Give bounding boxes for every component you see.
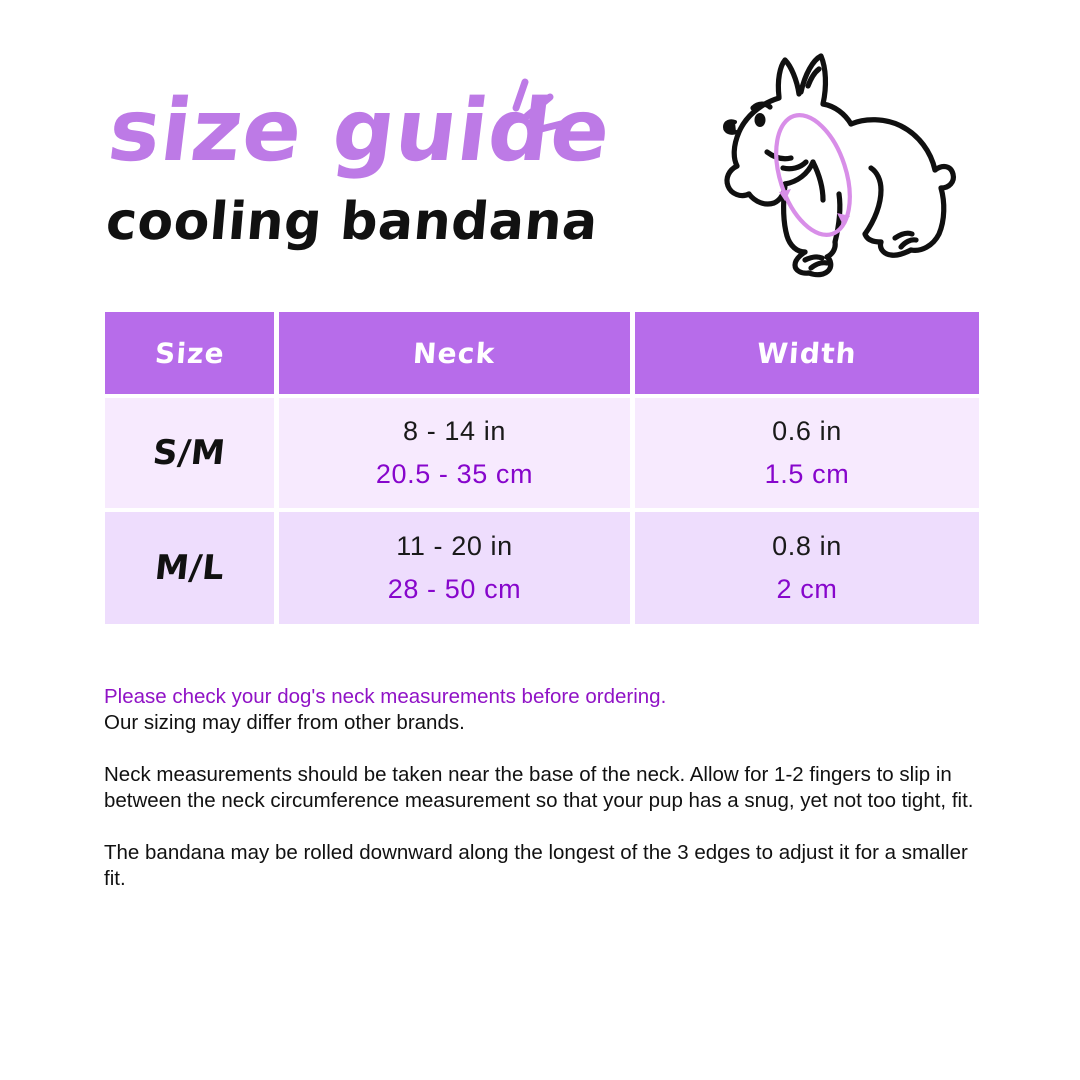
table-header-size-label: Size bbox=[153, 337, 225, 370]
table-header-size: Size bbox=[105, 312, 274, 394]
note-secondary-line: Our sizing may differ from other brands. bbox=[104, 710, 984, 736]
sparkle-lines-icon bbox=[492, 72, 572, 156]
note-paragraph-rolling: The bandana may be rolled downward along… bbox=[104, 840, 984, 892]
size-guide-page: size guide cooling bandana bbox=[0, 0, 1080, 1080]
width-inches: 0.8 in bbox=[772, 533, 842, 560]
cell-neck: 8 - 14 in 20.5 - 35 cm bbox=[279, 398, 630, 508]
neck-centimeters: 28 - 50 cm bbox=[388, 576, 522, 603]
notes-section: Please check your dog's neck measurement… bbox=[104, 684, 984, 892]
neck-centimeters: 20.5 - 35 cm bbox=[376, 461, 533, 488]
note-accent-line: Please check your dog's neck measurement… bbox=[104, 684, 984, 710]
cell-width: 0.6 in 1.5 cm bbox=[635, 398, 979, 508]
size-label: S/M bbox=[151, 433, 227, 473]
page-subtitle: cooling bandana bbox=[104, 196, 610, 248]
cell-neck: 11 - 20 in 28 - 50 cm bbox=[279, 512, 630, 624]
table-row: M/L 11 - 20 in 28 - 50 cm 0.8 in 2 cm bbox=[105, 512, 974, 624]
french-bulldog-illustration bbox=[705, 42, 975, 287]
header-section: size guide cooling bandana bbox=[0, 0, 1080, 300]
cell-size: S/M bbox=[105, 398, 274, 508]
table-header-row: Size Neck Width bbox=[105, 312, 974, 394]
cell-width: 0.8 in 2 cm bbox=[635, 512, 979, 624]
width-centimeters: 1.5 cm bbox=[765, 461, 850, 488]
table-header-neck-label: Neck bbox=[412, 337, 497, 370]
neck-inches: 8 - 14 in bbox=[403, 418, 506, 445]
table-row: S/M 8 - 14 in 20.5 - 35 cm 0.6 in 1.5 cm bbox=[105, 398, 974, 508]
size-table: Size Neck Width S/M 8 - 14 in 20.5 - 35 … bbox=[105, 312, 974, 624]
table-header-neck: Neck bbox=[279, 312, 630, 394]
width-centimeters: 2 cm bbox=[777, 576, 838, 603]
size-label: M/L bbox=[153, 548, 227, 588]
table-header-width-label: Width bbox=[756, 337, 858, 370]
cell-size: M/L bbox=[105, 512, 274, 624]
width-inches: 0.6 in bbox=[772, 418, 842, 445]
neck-inches: 11 - 20 in bbox=[396, 533, 513, 560]
note-paragraph-measuring: Neck measurements should be taken near t… bbox=[104, 762, 984, 814]
table-header-width: Width bbox=[635, 312, 979, 394]
